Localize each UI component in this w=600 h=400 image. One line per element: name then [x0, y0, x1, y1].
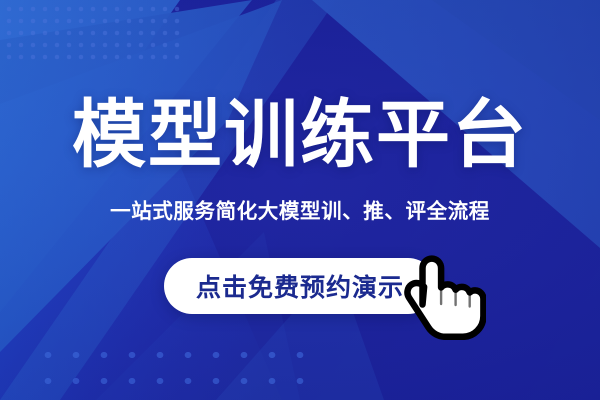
pointing-hand-cursor-icon [400, 252, 486, 340]
book-free-demo-button[interactable]: 点击免费预约演示 [164, 258, 436, 314]
banner-subheadline: 一站式服务简化大模型训、推、评全流程 [0, 202, 600, 223]
banner-content: 模型训练平台 一站式服务简化大模型训、推、评全流程 点击免费预约演示 [0, 0, 600, 400]
cta-row: 点击免费预约演示 [0, 258, 600, 314]
banner-headline: 模型训练平台 [0, 98, 600, 172]
promo-banner: 模型训练平台 一站式服务简化大模型训、推、评全流程 点击免费预约演示 [0, 0, 600, 400]
